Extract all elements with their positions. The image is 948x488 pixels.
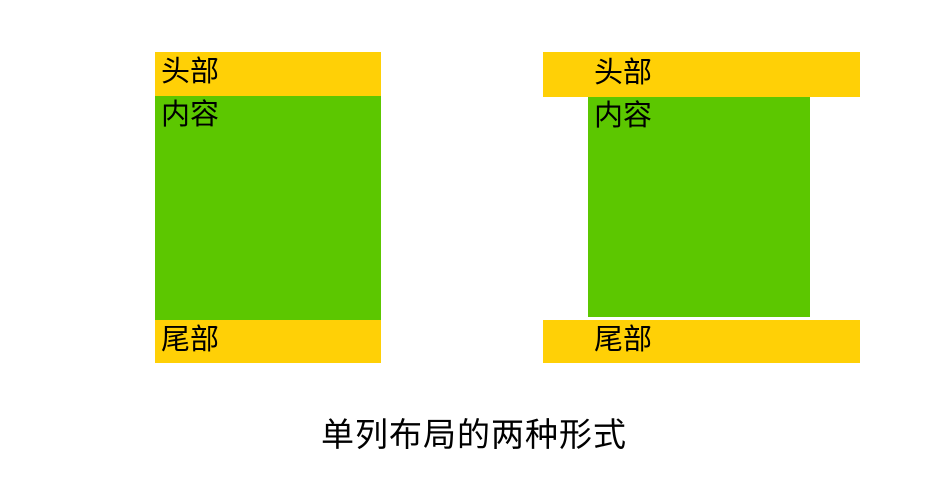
left-footer-label: 尾部 (155, 320, 381, 354)
left-header-block: 头部 (155, 52, 381, 96)
left-header-label: 头部 (155, 52, 381, 86)
left-content-block: 内容 (155, 96, 381, 320)
left-footer-block: 尾部 (155, 320, 381, 363)
diagram-full-width-stacked: 头部 内容 尾部 (155, 52, 381, 363)
diagram-canvas: 头部 内容 尾部 头部 内容 尾部 单列布局的两种形式 (0, 0, 948, 488)
right-footer-label: 尾部 (543, 320, 860, 354)
figure-caption: 单列布局的两种形式 (0, 414, 948, 456)
diagram-inset-content: 头部 内容 尾部 (543, 52, 860, 363)
right-header-block: 头部 (543, 52, 860, 97)
right-content-block: 内容 (588, 97, 810, 317)
right-footer-block: 尾部 (543, 320, 860, 363)
right-content-label: 内容 (588, 97, 810, 130)
left-content-label: 内容 (155, 96, 381, 129)
right-header-label: 头部 (543, 52, 860, 87)
